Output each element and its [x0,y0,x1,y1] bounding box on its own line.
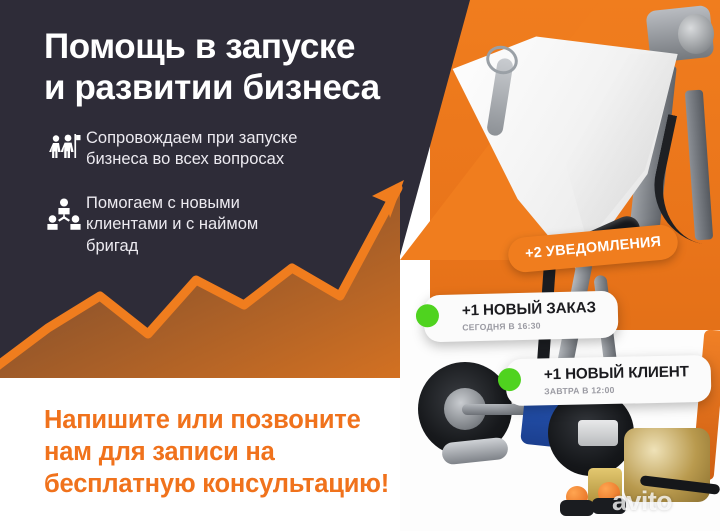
machine-motor-cap [678,14,714,54]
cta-line-1: Напишите или позвоните [44,404,514,436]
call-to-action: Напишите или позвоните нам для записи на… [44,404,514,500]
benefit-line-1: Сопровождаем при запуске [86,129,297,147]
benefit-line-3: бригад [86,237,138,255]
page-title: Помощь в запуске и развитии бизнеса [44,26,444,109]
badge-timestamp: СЕГОДНЯ В 16:30 [462,319,596,332]
benefit-line-1: Помогаем с новыми [86,194,240,212]
status-badge-new-client: +1 НОВЫЙ КЛИЕНТ ЗАВТРА В 12:00 [506,355,712,406]
cta-line-2: нам для записи на [44,436,514,468]
benefit-line-2: клиентами и с наймом [86,215,258,233]
advertisement-banner: Помощь в запуске и развитии бизнеса Сопр… [0,0,720,531]
green-dot-icon [416,304,440,328]
machine-ball-base-left [560,500,594,516]
badge-timestamp: ЗАВТРА В 12:00 [544,383,689,396]
list-item: Сопровождаем при запуске бизнеса во всех… [42,128,372,171]
benefit-text: Сопровождаем при запуске бизнеса во всех… [86,128,297,171]
cta-line-3: бесплатную консультацию! [44,468,514,500]
machine-ball-base-right [592,498,626,514]
headline-line-1: Помощь в запуске [44,26,444,67]
people-with-flag-icon [42,129,86,169]
benefit-line-2: бизнеса во всех вопросах [86,150,284,168]
benefits-list: Сопровождаем при запуске бизнеса во всех… [42,128,372,279]
status-badge-new-order: +1 НОВЫЙ ЗАКАЗ СЕГОДНЯ В 16:30 [423,291,618,343]
green-dot-icon [498,367,521,390]
badge-label: +2 УВЕДОМЛЕНИЯ [525,234,662,262]
machine-clamp-plate [578,420,618,446]
people-group-icon [42,194,86,234]
headline-line-2: и развитии бизнеса [44,67,444,108]
badge-label: +1 НОВЫЙ ЗАКАЗ [462,299,597,319]
benefit-text: Помогаем с новыми клиентами и с наймом б… [86,193,258,257]
list-item: Помогаем с новыми клиентами и с наймом б… [42,193,372,257]
badge-label: +1 НОВЫЙ КЛИЕНТ [544,363,689,383]
